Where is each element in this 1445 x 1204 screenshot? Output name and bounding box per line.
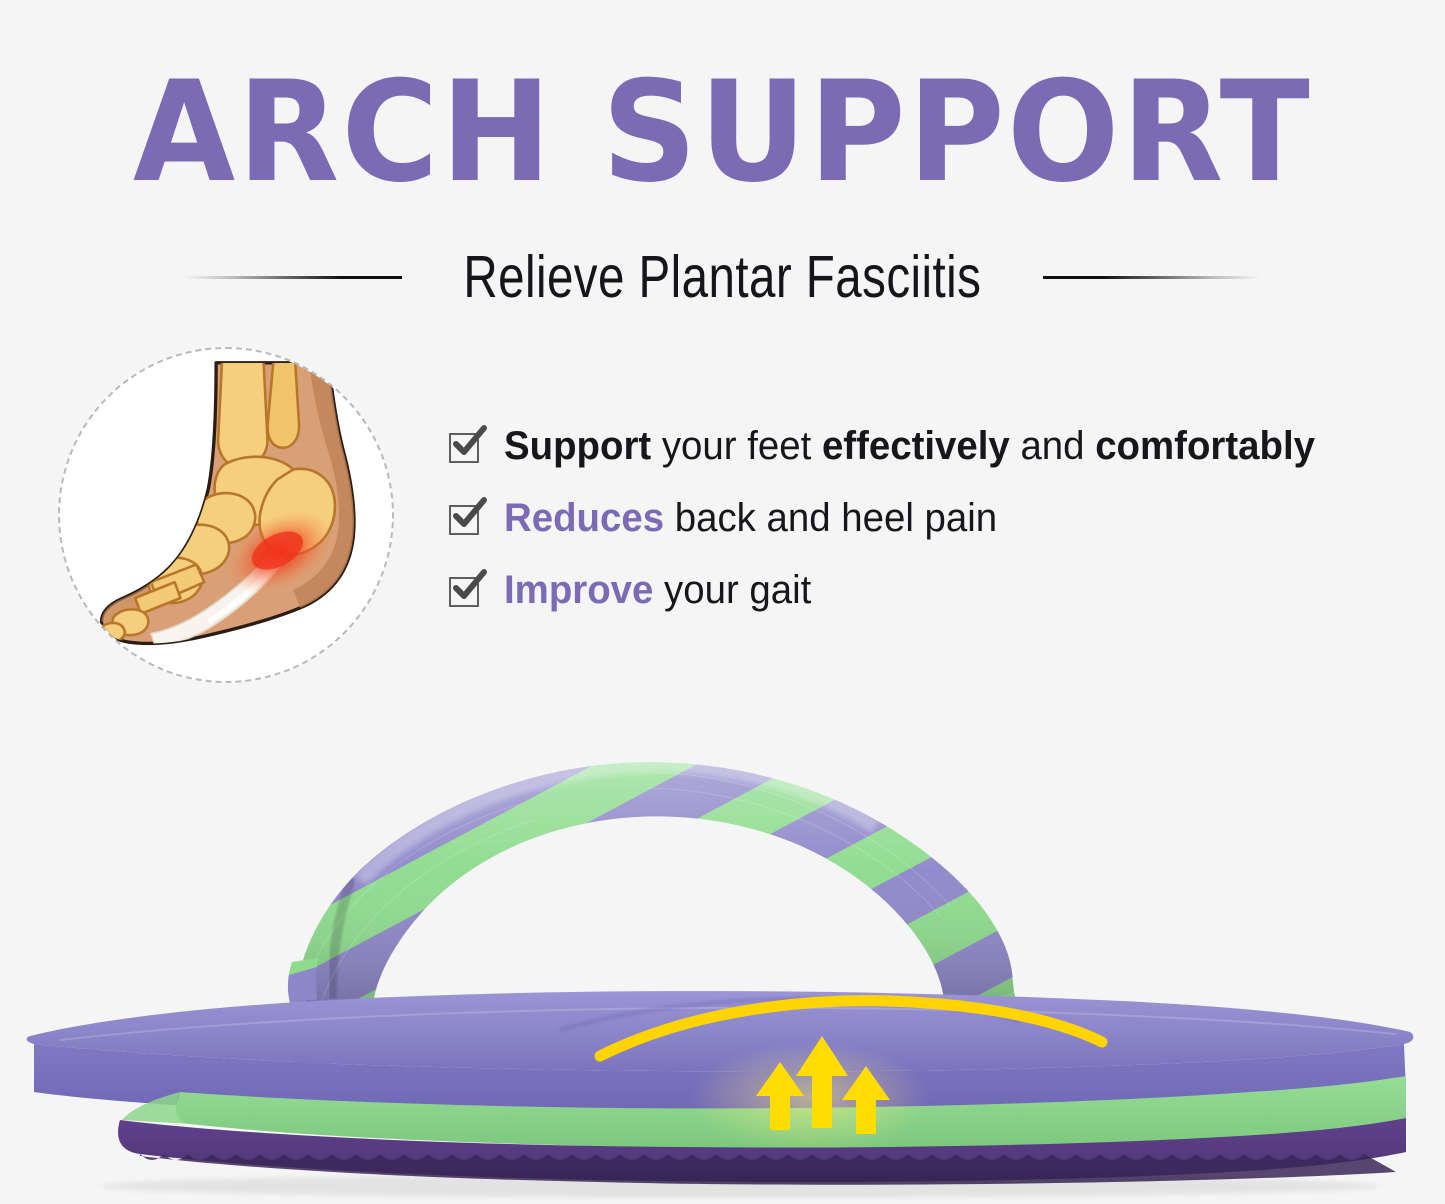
- checkbox-checked-icon: [449, 503, 483, 537]
- feature-item-improve: Improve your gait: [449, 568, 1409, 612]
- subtitle-row: Relieve Plantar Fasciitis: [0, 246, 1445, 308]
- product-feature-graphic: ARCH SUPPORT Relieve Plantar Fasciitis: [0, 0, 1445, 1204]
- page-subtitle: Relieve Plantar Fasciitis: [463, 243, 981, 311]
- feature-segment: your feet: [651, 424, 822, 468]
- feature-segment: effectively: [822, 424, 1010, 468]
- feature-segment: back and heel pain: [664, 496, 997, 540]
- foot-anatomy-illustration: [58, 347, 394, 683]
- checkbox-checked-icon: [449, 431, 483, 465]
- feature-segment: Reduces: [504, 496, 664, 540]
- feature-segment: Support: [504, 424, 651, 468]
- divider-line-right: [1043, 276, 1261, 279]
- feature-text: Improve your gait: [504, 568, 811, 612]
- feature-item-reduces: Reduces back and heel pain: [449, 496, 1409, 540]
- feature-segment: comfortably: [1095, 424, 1315, 468]
- feature-text: Support your feet effectively and comfor…: [504, 424, 1315, 468]
- feature-segment: and: [1010, 424, 1095, 468]
- page-title: ARCH SUPPORT: [0, 62, 1445, 201]
- sandal-product-image: [0, 700, 1445, 1204]
- feature-list: Support your feet effectively and comfor…: [449, 424, 1409, 640]
- feature-text: Reduces back and heel pain: [504, 496, 997, 540]
- divider-line-left: [184, 276, 402, 279]
- feature-segment: your gait: [653, 568, 811, 612]
- feature-item-support: Support your feet effectively and comfor…: [449, 424, 1409, 468]
- checkbox-checked-icon: [449, 575, 483, 609]
- feature-segment: Improve: [504, 568, 653, 612]
